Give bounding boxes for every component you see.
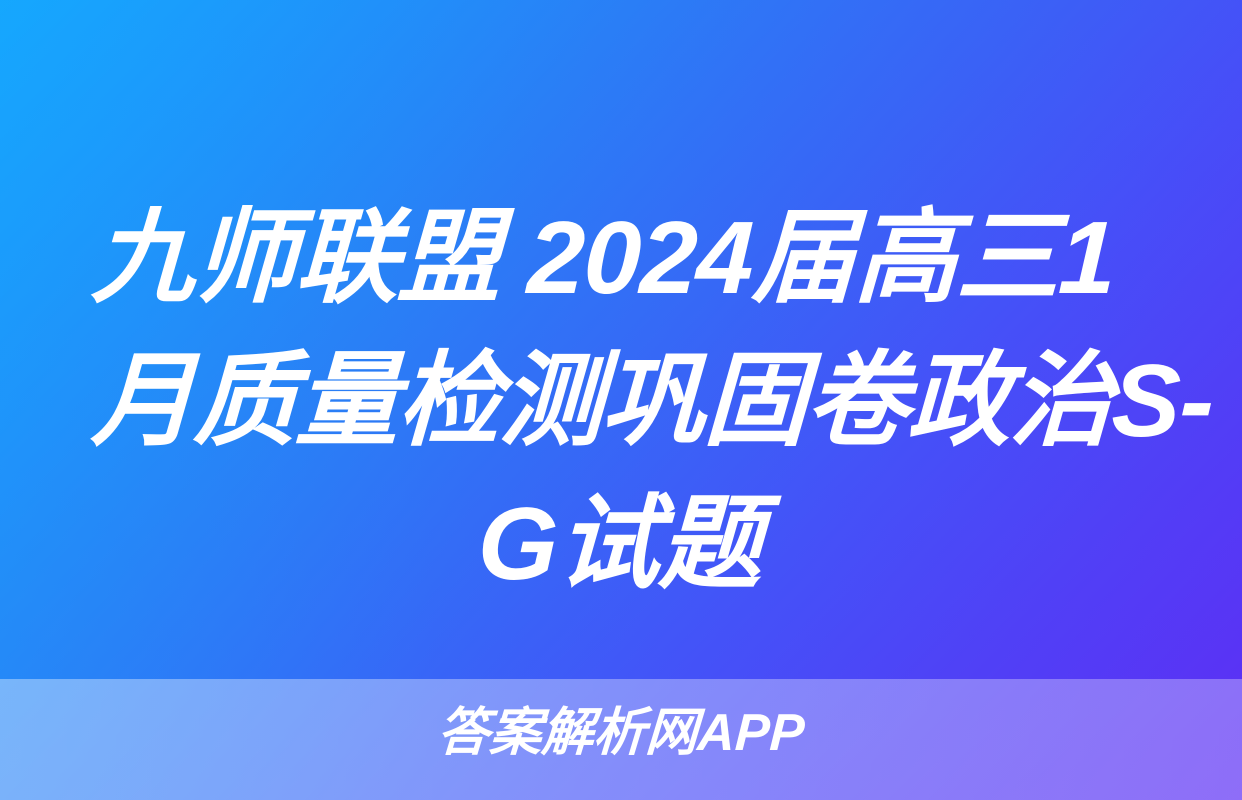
title-line-3: G试题	[90, 472, 1153, 615]
app-watermark: 答案解析网APP	[0, 702, 1242, 764]
title-line-2: 月质量检测巩固卷政治S-	[90, 329, 1153, 472]
page-title: 九师联盟 2024届高三1 月质量检测巩固卷政治S- G试题	[92, 186, 1150, 615]
cover-card: 九师联盟 2024届高三1 月质量检测巩固卷政治S- G试题 答案解析网APP	[0, 0, 1242, 800]
title-line-1: 九师联盟 2024届高三1	[90, 186, 1153, 329]
